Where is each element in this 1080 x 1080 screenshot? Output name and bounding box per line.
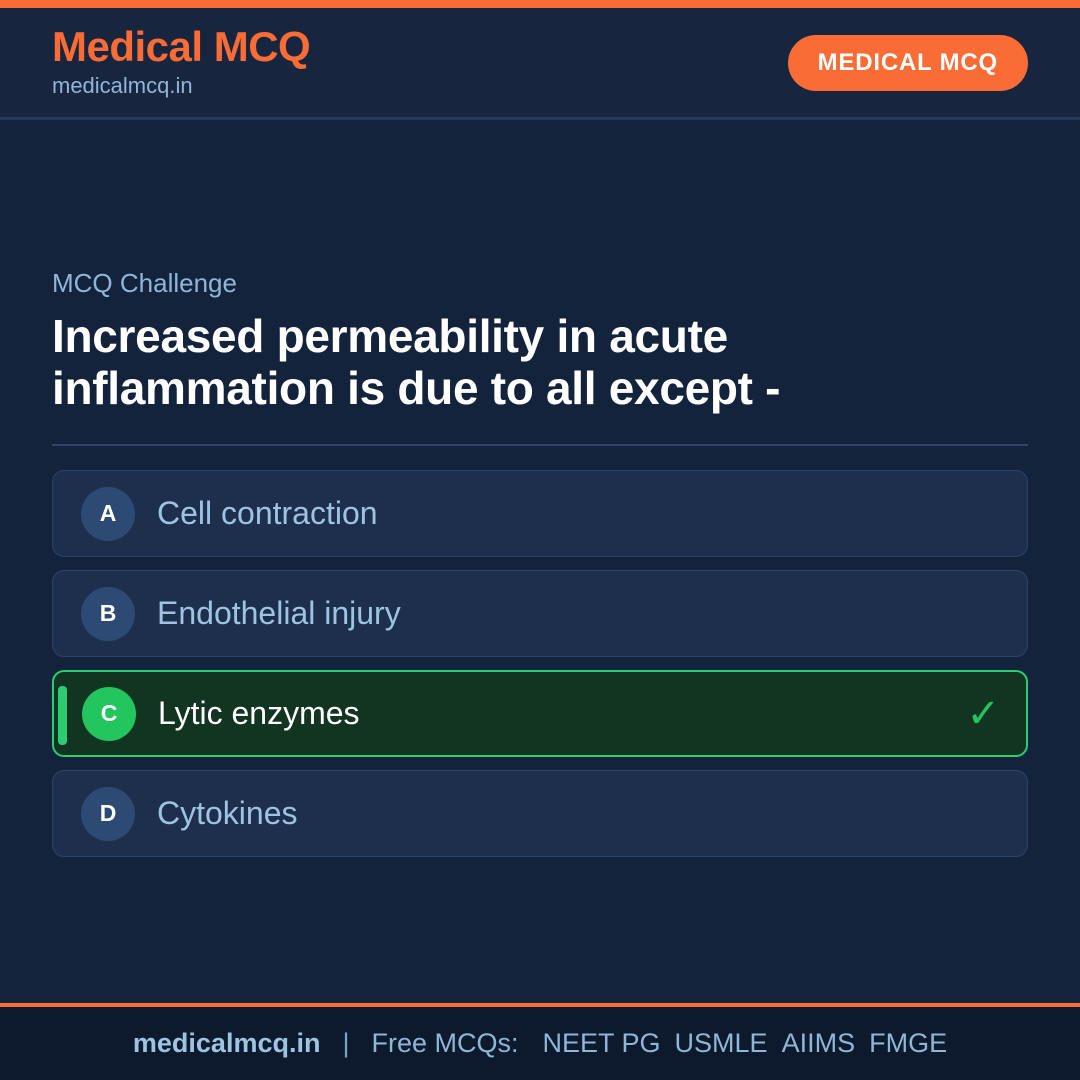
brand-badge: MEDICAL MCQ [788,35,1028,91]
option-a[interactable]: A Cell contraction [52,470,1028,557]
option-b[interactable]: B Endothelial injury [52,570,1028,657]
footer-label: Free MCQs: [371,1028,518,1059]
eyebrow-label: MCQ Challenge [52,268,1028,299]
brand-url: medicalmcq.in [52,72,310,101]
footer-exam-usmle[interactable]: USMLE [675,1028,768,1059]
options-list: A Cell contraction B Endothelial injury … [52,470,1028,857]
option-letter-badge: B [81,587,135,641]
option-letter-badge: C [82,687,136,741]
footer-exam-fmge[interactable]: FMGE [869,1028,947,1059]
top-accent-bar [0,0,1080,8]
main-content: MCQ Challenge Increased permeability in … [0,123,1080,1003]
question-divider [52,444,1028,446]
footer-separator: | [342,1028,349,1059]
correct-accent-bar [58,686,67,745]
option-letter-badge: D [81,787,135,841]
option-label: Lytic enzymes [158,696,360,731]
brand-title: Medical MCQ [52,25,310,69]
page-header: Medical MCQ medicalmcq.in MEDICAL MCQ [0,8,1080,120]
option-d[interactable]: D Cytokines [52,770,1028,857]
option-label: Endothelial injury [157,596,401,631]
option-c-correct[interactable]: C Lytic enzymes ✓ [52,670,1028,757]
brand-block: Medical MCQ medicalmcq.in [52,25,310,101]
footer-exam-aiims[interactable]: AIIMS [782,1028,856,1059]
check-icon: ✓ [966,694,1000,734]
footer-exam-neet-pg[interactable]: NEET PG [543,1028,661,1059]
footer-site-link[interactable]: medicalmcq.in [133,1028,321,1059]
option-label: Cell contraction [157,496,378,531]
option-letter-badge: A [81,487,135,541]
page-footer: medicalmcq.in | Free MCQs: NEET PG USMLE… [0,1003,1080,1080]
option-label: Cytokines [157,796,298,831]
footer-content: medicalmcq.in | Free MCQs: NEET PG USMLE… [133,1028,947,1059]
question-text: Increased permeability in acute inflamma… [52,311,1012,414]
